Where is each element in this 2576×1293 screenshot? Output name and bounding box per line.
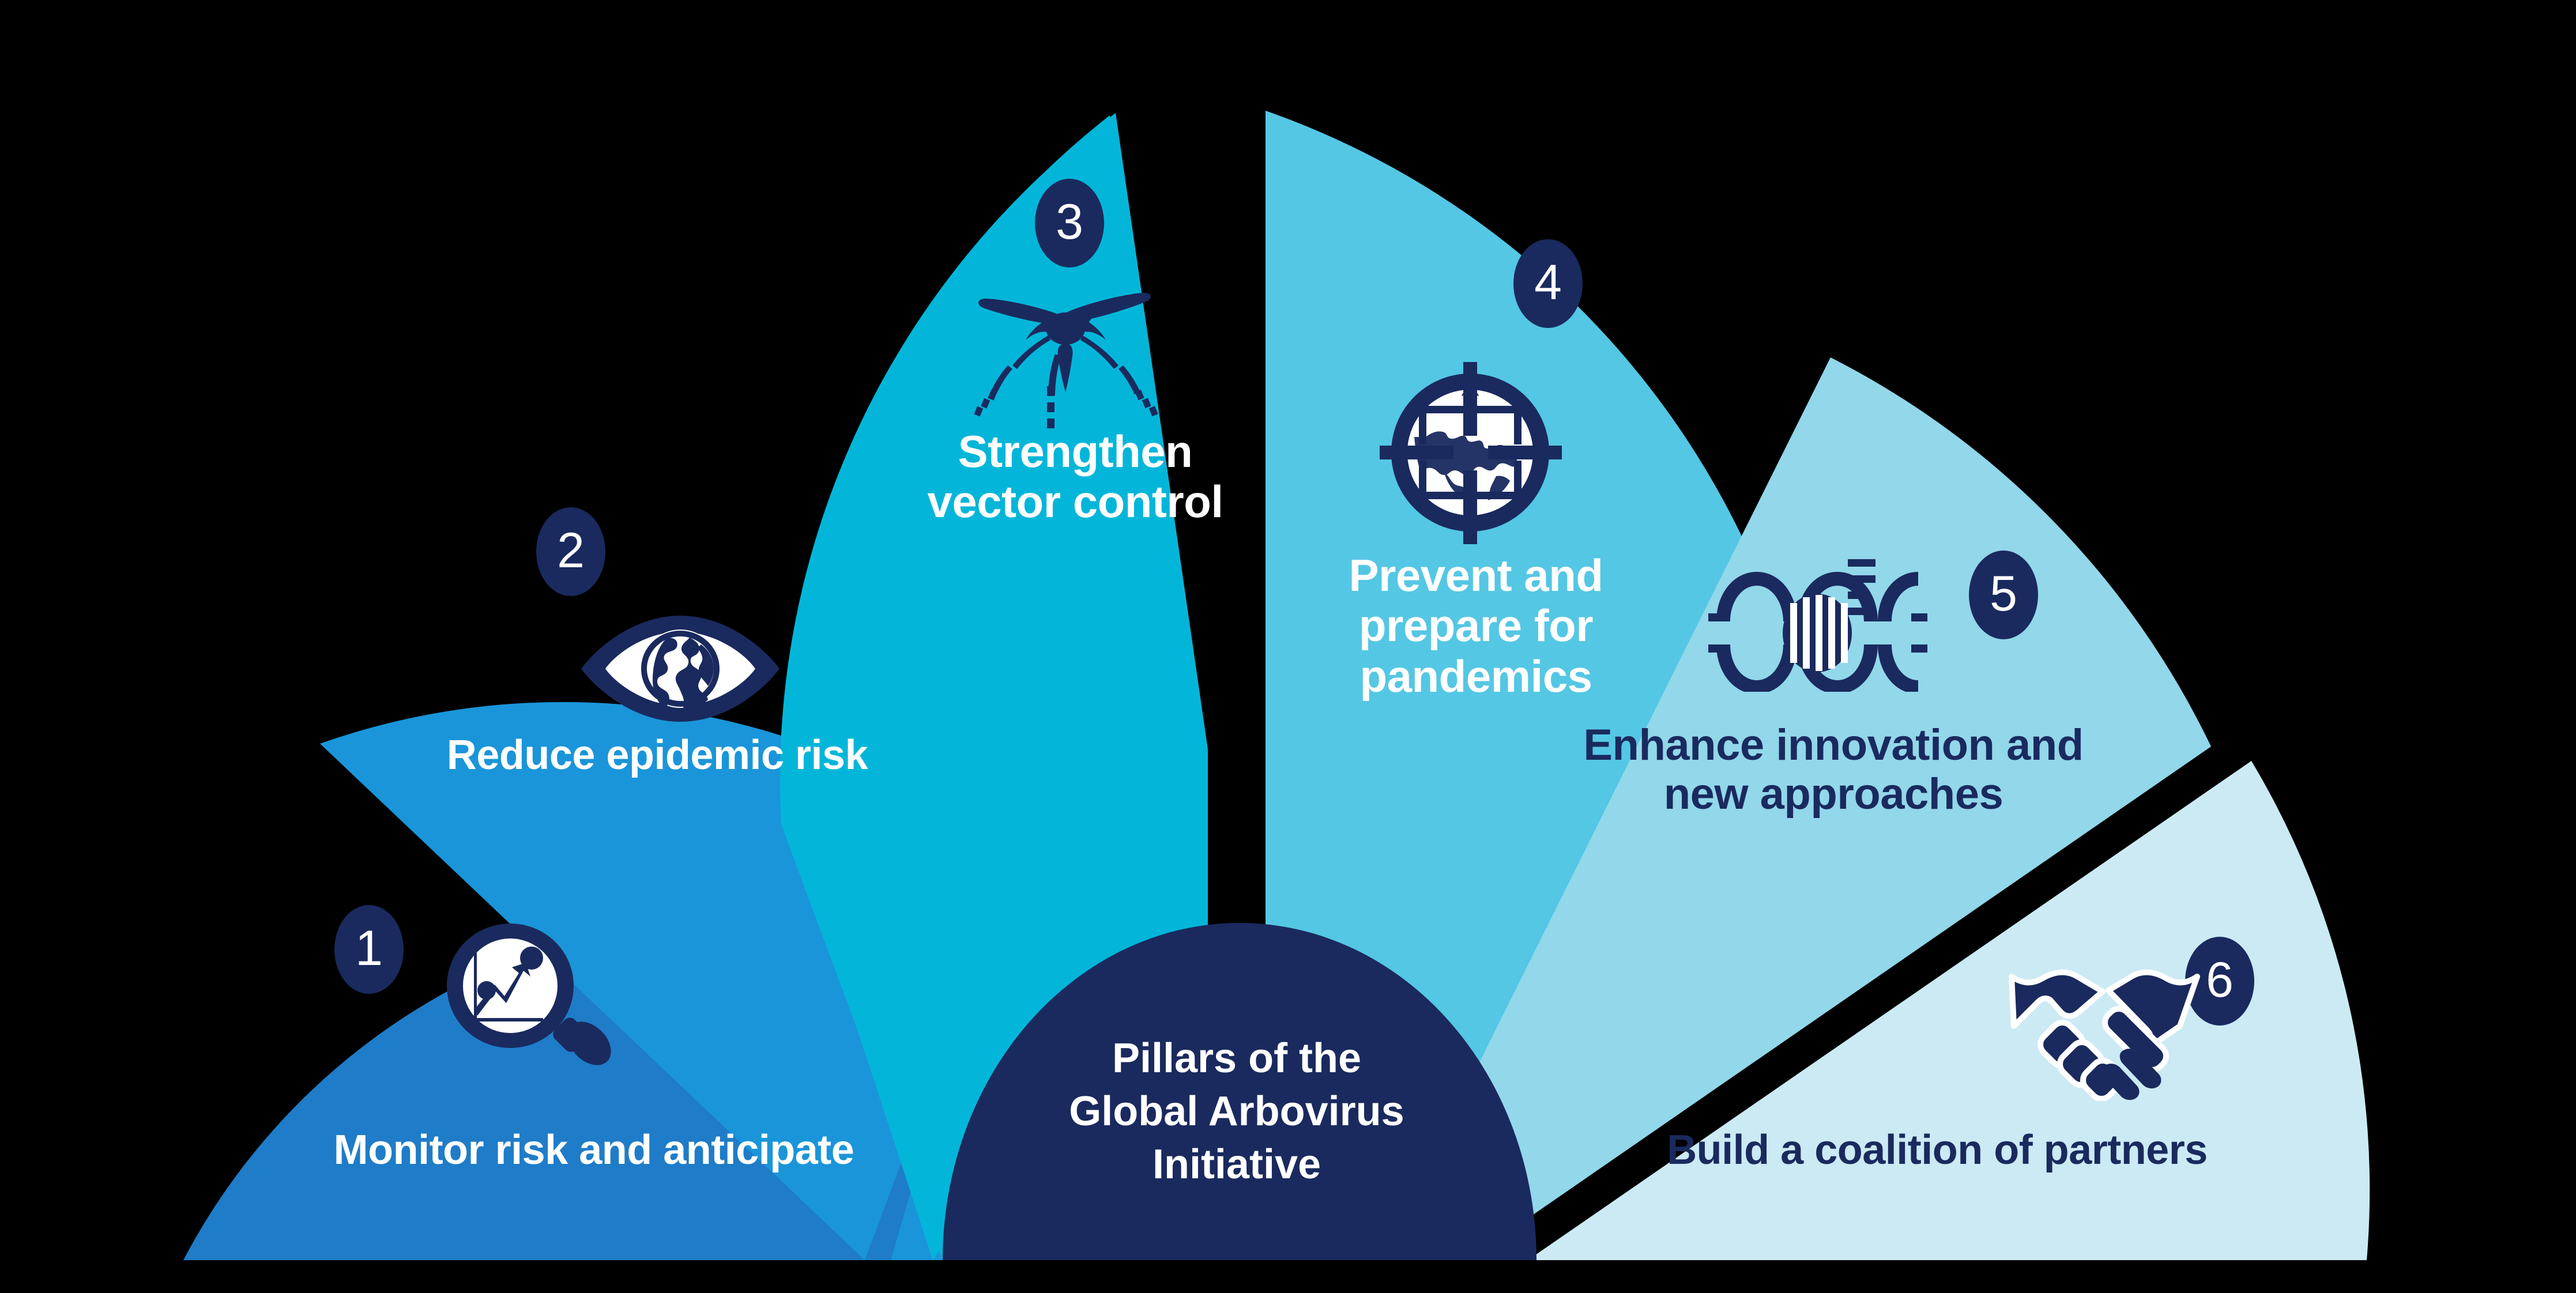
badge-number-6-text: 6 bbox=[2206, 955, 2234, 1005]
badge-number-5-text: 5 bbox=[1990, 569, 2017, 619]
badge-number-5: 5 bbox=[1969, 551, 2038, 639]
eye-globe-icon bbox=[577, 611, 784, 726]
segment-label-4: Prevent and prepare for pandemics bbox=[1251, 551, 1701, 702]
badge-number-2-text: 2 bbox=[557, 526, 585, 575]
mosquito-icon bbox=[946, 271, 1188, 438]
badge-number-4-text: 4 bbox=[1534, 258, 1562, 307]
infographic-canvas: 1 Monitor risk and anticipate 2 bbox=[0, 0, 2576, 1293]
badge-number-3-text: 3 bbox=[1056, 197, 1083, 247]
segment-label-5: Enhance innovation and new approaches bbox=[1493, 721, 2174, 819]
handshake-icon bbox=[2003, 957, 2205, 1101]
badge-number-1: 1 bbox=[334, 905, 404, 994]
magnifier-chart-icon bbox=[438, 922, 611, 1066]
badge-number-2: 2 bbox=[536, 507, 605, 596]
badge-number-1-text: 1 bbox=[355, 923, 383, 973]
segment-label-1: Monitor risk and anticipate bbox=[277, 1127, 911, 1174]
badge-number-3: 3 bbox=[1035, 179, 1104, 267]
crosshair-globe-icon bbox=[1375, 357, 1565, 548]
segment-label-3: Strengthen vector control bbox=[807, 427, 1343, 527]
badge-number-4: 4 bbox=[1513, 239, 1583, 328]
segment-label-2: Reduce epidemic risk bbox=[369, 732, 946, 779]
segment-label-6: Build a coalition of partners bbox=[1591, 1127, 2283, 1174]
dna-icon bbox=[1704, 553, 1957, 692]
hub-title: Pillars of the Global Arbovirus Initiati… bbox=[977, 1032, 1496, 1191]
